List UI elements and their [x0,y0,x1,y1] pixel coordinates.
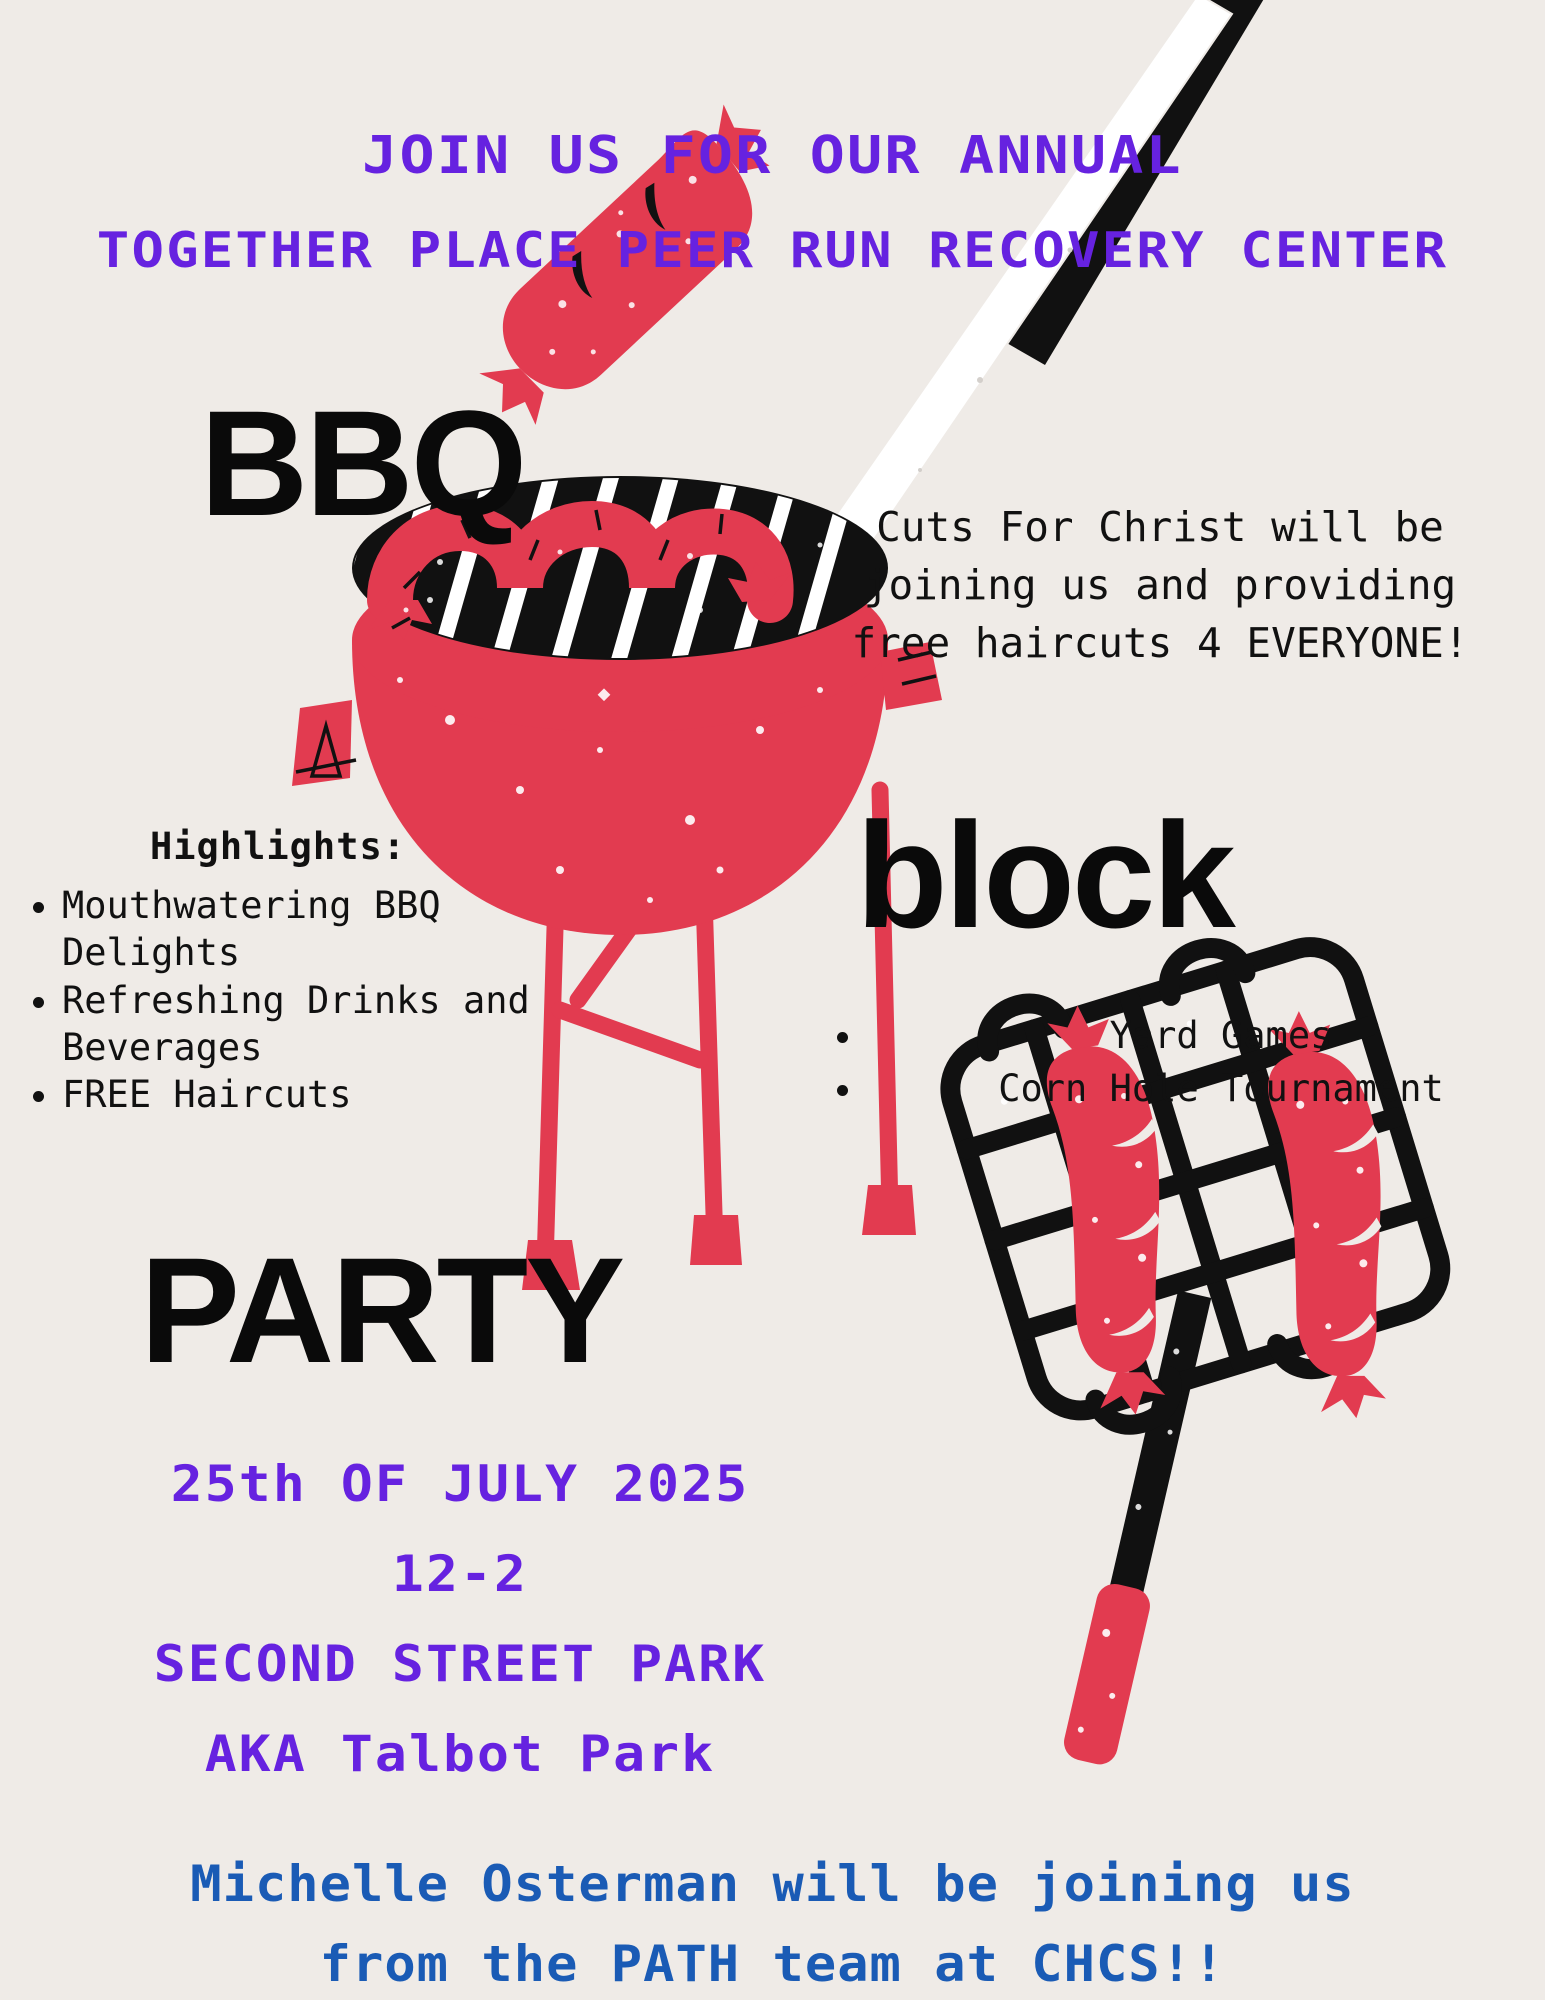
event-time: 12-2 [36,1545,884,1603]
header-line-2: TOGETHER PLACE PEER RUN RECOVERY CENTER [0,222,1545,279]
highlights-title: Highlights: [150,825,406,868]
highlights-list: Mouthwatering BBQ Delights Refreshing Dr… [20,882,582,1119]
display-word-party: PARTY [140,1235,622,1385]
flyer-canvas: JOIN US FOR OUR ANNUAL TOGETHER PLACE PE… [0,0,1545,2000]
display-word-bbq: BBQ [200,388,524,538]
footer-line-1: Michelle Osterman will be joining us [0,1855,1545,1913]
list-item: Refreshing Drinks and Beverages [62,977,582,1072]
activities-list: Yard Games Corn Hole Tournament [830,1010,1545,1115]
footer-line-2: from the PATH team at CHCS!! [0,1935,1545,1993]
list-item: Mouthwatering BBQ Delights [62,882,582,977]
header-line-1: JOIN US FOR OUR ANNUAL [0,126,1545,186]
event-venue-alt: AKA Talbot Park [36,1725,884,1783]
list-item: FREE Haircuts [62,1071,582,1118]
event-date: 25th OF JULY 2025 [36,1455,884,1513]
event-venue: SECOND STREET PARK [36,1635,884,1693]
cuts-for-christ-note: Cuts For Christ will be joining us and p… [820,498,1500,673]
display-word-block: block [856,800,1233,950]
tongs-sausage-illustration [448,0,1268,560]
list-item: Corn Hole Tournament [866,1063,1545,1116]
list-item: Yard Games [866,1010,1545,1063]
